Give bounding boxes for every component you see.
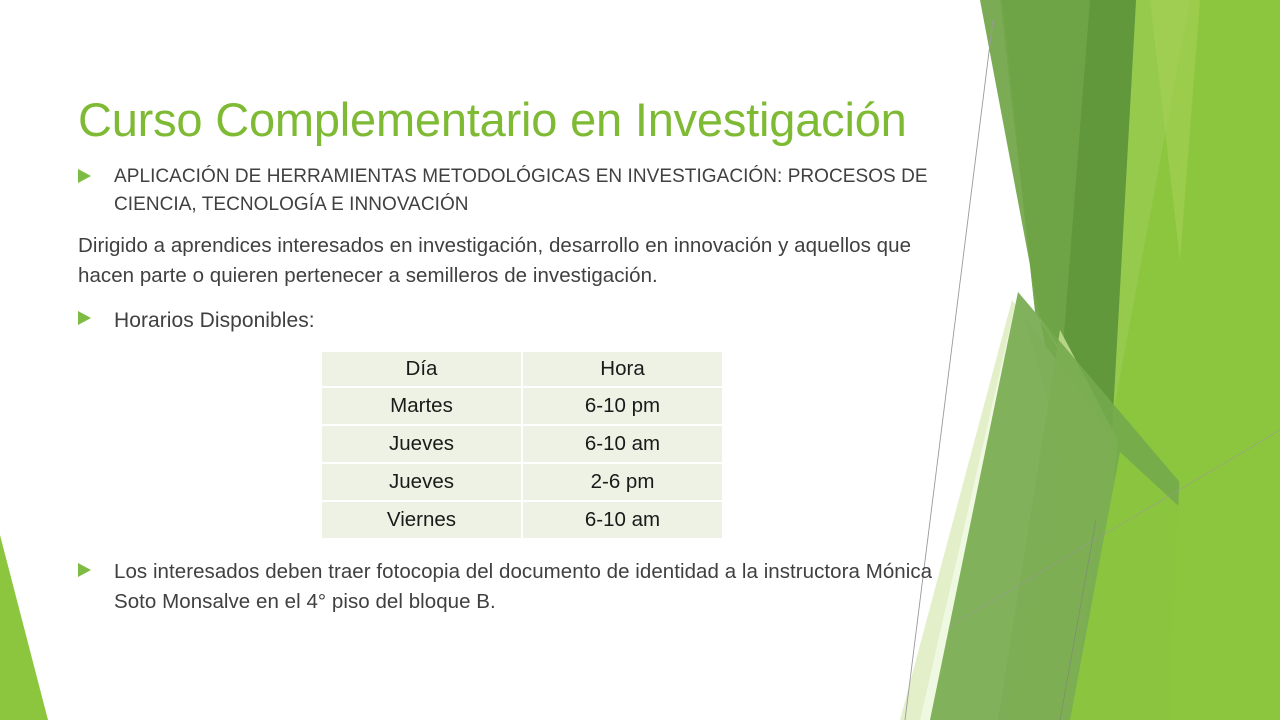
table-header-row: Día Hora <box>322 352 722 387</box>
facet-shape-dark-upper <box>1000 0 1136 432</box>
table-header-hora: Hora <box>522 352 722 387</box>
slide-canvas: Curso Complementario en Investigación AP… <box>0 0 1280 720</box>
triangle-right-icon <box>78 305 114 326</box>
facet-shape-bottom-band <box>930 292 1280 720</box>
table-cell-hour: 6-10 am <box>522 425 722 463</box>
bullet-item-notice: Los interesados deben traer fotocopia de… <box>78 557 938 618</box>
facet-shape-bright-mid <box>1000 0 1196 720</box>
schedule-table: Día Hora Martes 6-10 pm Jueves 6-10 am J… <box>322 352 722 538</box>
facet-shape-top-highlight <box>1150 0 1200 260</box>
table-cell-day: Jueves <box>322 425 522 463</box>
facet-shape-far-right-solid <box>1170 0 1280 720</box>
facet-shape-bright-right <box>1075 0 1280 720</box>
facet-shape-bottom-bright <box>1070 452 1280 720</box>
paragraph-target-audience: Dirigido a aprendices interesados en inv… <box>78 231 938 290</box>
table-cell-day: Jueves <box>322 463 522 501</box>
table-cell-hour: 6-10 am <box>522 501 722 538</box>
bullet-course-text: APLICACIÓN DE HERRAMIENTAS METODOLÓGICAS… <box>114 163 938 219</box>
facet-shape-dark-lower <box>1040 434 1112 720</box>
paragraph-target-audience-text: Dirigido a aprendices interesados en inv… <box>78 231 938 290</box>
triangle-right-icon <box>78 557 114 578</box>
hairline-diagonal-cross <box>950 430 1280 626</box>
table-cell-hour: 6-10 pm <box>522 387 722 425</box>
table-cell-day: Viernes <box>322 501 522 538</box>
bullet-item-course: APLICACIÓN DE HERRAMIENTAS METODOLÓGICAS… <box>78 163 938 219</box>
bullet-item-schedules: Horarios Disponibles: <box>78 305 938 336</box>
table-header-dia: Día <box>322 352 522 387</box>
hairline-diagonal-lower <box>1060 520 1096 720</box>
page-title: Curso Complementario en Investigación <box>78 93 958 147</box>
table-row: Viernes 6-10 am <box>322 501 722 538</box>
slide-content: Curso Complementario en Investigación AP… <box>0 0 960 720</box>
triangle-right-icon <box>78 163 114 184</box>
table-row: Jueves 2-6 pm <box>322 463 722 501</box>
table-cell-day: Martes <box>322 387 522 425</box>
table-row: Jueves 6-10 am <box>322 425 722 463</box>
table-row: Martes 6-10 pm <box>322 387 722 425</box>
bullet-schedules-label: Horarios Disponibles: <box>114 305 938 336</box>
facet-shape-light-sheet <box>998 330 1118 720</box>
facet-shape-medium-left <box>980 0 1112 520</box>
bullet-notice-text: Los interesados deben traer fotocopia de… <box>114 557 938 618</box>
table-cell-hour: 2-6 pm <box>522 463 722 501</box>
facet-shape-darker-overlay <box>1062 0 1136 432</box>
